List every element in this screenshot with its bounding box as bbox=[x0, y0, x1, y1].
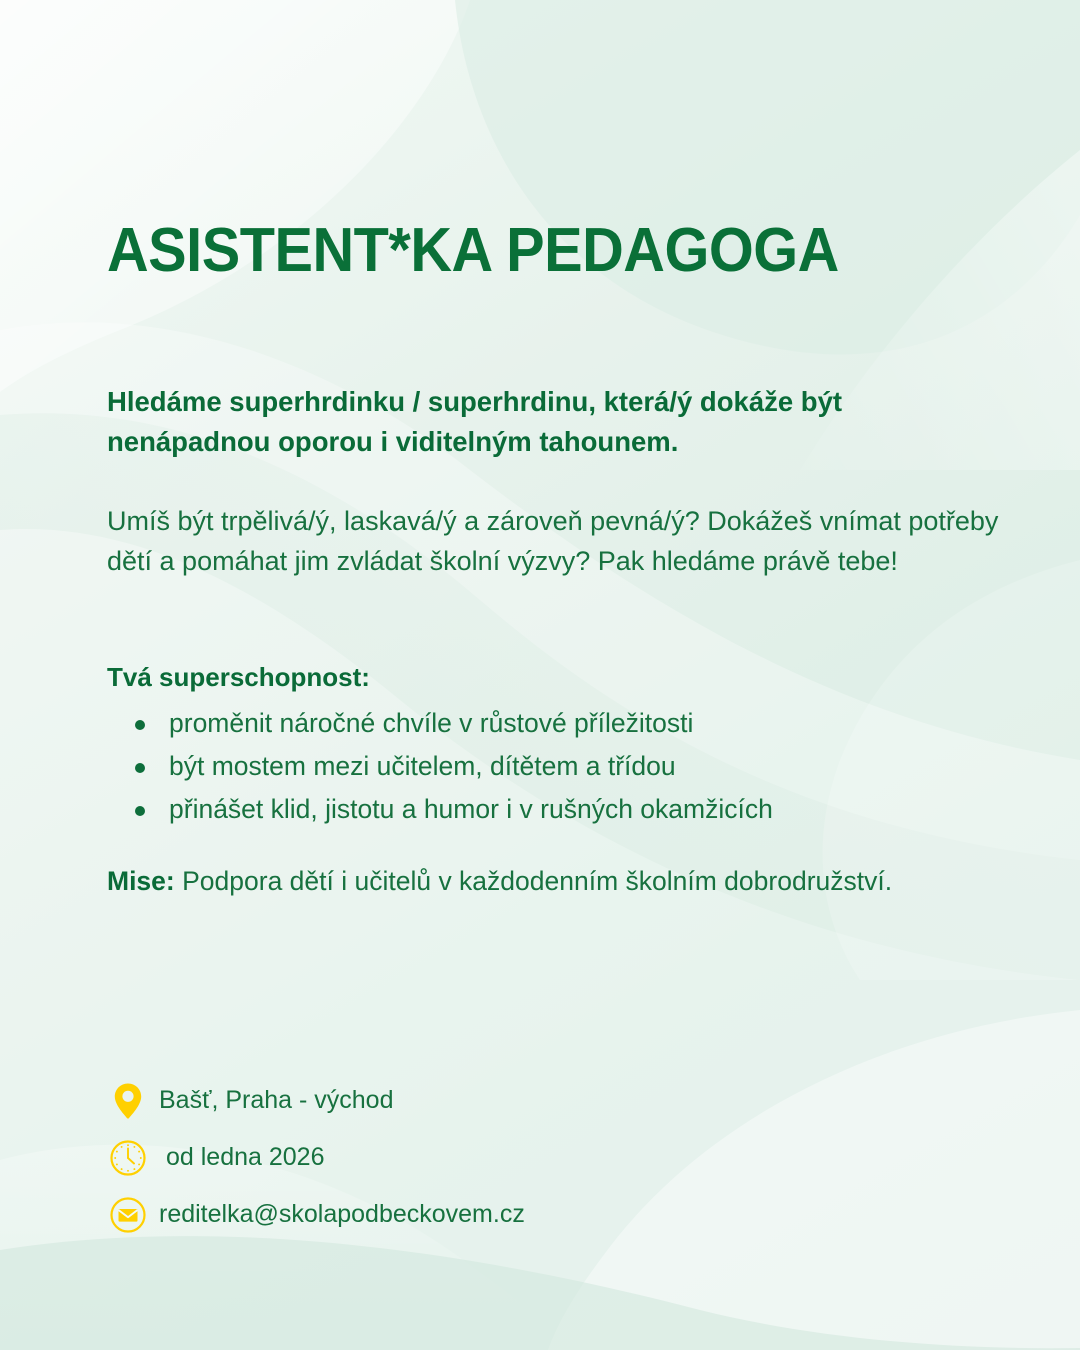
skills-list: proměnit náročné chvíle v růstové přílež… bbox=[127, 702, 1027, 831]
list-item: být mostem mezi učitelem, dítětem a tříd… bbox=[127, 745, 1027, 788]
mission-label: Mise: bbox=[107, 866, 175, 896]
clock-icon bbox=[107, 1137, 149, 1179]
contact-location-text: Bašť, Praha - východ bbox=[159, 1088, 394, 1113]
job-posting-poster: ASISTENT*KA PEDAGOGA Hledáme superhrdink… bbox=[0, 0, 1080, 1350]
contact-block: Bašť, Praha - východ bbox=[107, 1072, 867, 1243]
contact-email-text[interactable]: reditelka@skolapodbeckovem.cz bbox=[159, 1202, 525, 1227]
contact-row-start-date: od ledna 2026 bbox=[107, 1129, 867, 1186]
map-pin-icon bbox=[107, 1080, 149, 1122]
lead-paragraph: Hledáme superhrdinku / superhrdinu, kter… bbox=[107, 382, 987, 461]
contact-row-location: Bašť, Praha - východ bbox=[107, 1072, 867, 1129]
list-item: proměnit náročné chvíle v růstové přílež… bbox=[127, 702, 1027, 745]
skills-heading: Tvá superschopnost: bbox=[107, 662, 370, 693]
intro-paragraph: Umíš být trpělivá/ý, laskavá/ý a zároveň… bbox=[107, 502, 1017, 582]
page-title: ASISTENT*KA PEDAGOGA bbox=[107, 220, 839, 282]
mission-statement: Mise: Podpora dětí i učitelů v každodenn… bbox=[107, 862, 1047, 900]
mission-text: Podpora dětí i učitelů v každodenním ško… bbox=[175, 866, 892, 896]
contact-start-date-text: od ledna 2026 bbox=[159, 1145, 324, 1170]
list-item: přinášet klid, jistotu a humor i v rušný… bbox=[127, 788, 1027, 831]
contact-row-email[interactable]: reditelka@skolapodbeckovem.cz bbox=[107, 1186, 867, 1243]
poster-content: ASISTENT*KA PEDAGOGA Hledáme superhrdink… bbox=[0, 0, 1080, 1350]
envelope-icon bbox=[107, 1194, 149, 1236]
